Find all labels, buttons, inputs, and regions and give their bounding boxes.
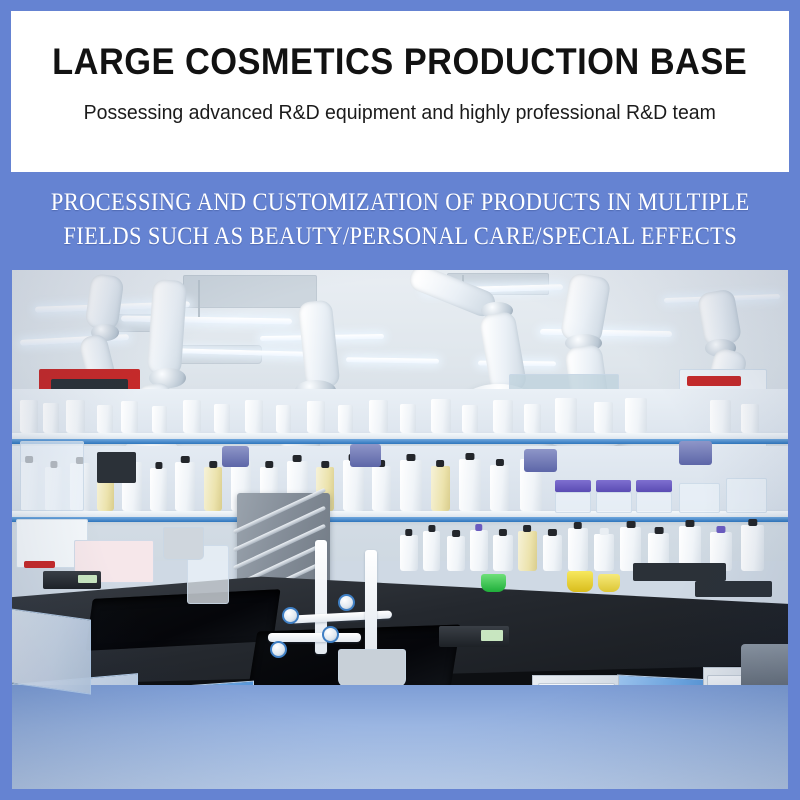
lab-scene [12, 270, 788, 789]
shelf-bottle [214, 404, 230, 434]
purple-tray [555, 480, 591, 491]
shelf-bottle [555, 398, 577, 434]
dispenser-head [524, 449, 557, 472]
shelf-bottle [121, 401, 139, 433]
reagent-bottle [204, 467, 222, 511]
faucet-knob [322, 626, 339, 643]
purple-tray [636, 480, 672, 491]
analytical-balance [43, 571, 101, 589]
bench-bottle [470, 530, 488, 572]
reagent-bottle [431, 466, 450, 511]
bench-instrument [633, 563, 726, 581]
balance-display [481, 630, 503, 640]
shelf-bottle [594, 402, 613, 434]
green-solution-flask [481, 574, 506, 593]
laboratory-photo [12, 270, 788, 789]
instrument-label [24, 561, 55, 568]
shelf-bottle [183, 400, 202, 434]
lab-technician [427, 397, 453, 444]
bench-bottle [594, 534, 614, 571]
shelf-bottle [20, 400, 38, 434]
shelf-bottle [338, 405, 354, 434]
bench-bottle [400, 535, 418, 571]
back-bench-equipment [20, 441, 84, 510]
faucet-arm [268, 633, 361, 641]
faucet-column [365, 550, 377, 654]
shelf-bottle [400, 404, 416, 434]
shelf-bottle [276, 405, 292, 434]
shelf-bottle [369, 400, 388, 434]
shelf-bottle [43, 403, 59, 434]
strapline-band: PROCESSING AND CUSTOMIZATION OF PRODUCTS… [11, 172, 789, 268]
warning-label [687, 376, 741, 385]
header-panel: LARGE COSMETICS PRODUCTION BASE Possessi… [11, 11, 789, 172]
shelf-bottle [710, 400, 730, 434]
lower-shelf-rail [12, 517, 788, 522]
bench-bottle [447, 536, 466, 571]
faucet-knob [270, 641, 287, 658]
bench-instrument [695, 581, 773, 597]
strapline-line-2: FIELDS SUCH AS BEAUTY/PERSONAL CARE/SPEC… [63, 223, 737, 251]
wall-base-unit [12, 606, 92, 694]
white-container [596, 492, 632, 513]
shelf-bottle [152, 406, 168, 434]
shelf-bottle [307, 401, 326, 434]
dispenser-head [222, 446, 250, 467]
balance-display [78, 575, 97, 583]
yellow-solution-flask [567, 571, 593, 592]
promotional-banner: LARGE COSMETICS PRODUCTION BASE Possessi… [0, 0, 800, 800]
stainless-pot [338, 649, 406, 687]
bench-bottle [518, 531, 537, 571]
white-container [726, 478, 767, 514]
reagent-bottle [490, 465, 509, 511]
page-subtitle: Possessing advanced R&D equipment and hi… [84, 101, 716, 125]
reagent-bottle [343, 460, 364, 511]
bench-bottle [423, 531, 440, 571]
shelf-bottle [625, 398, 647, 434]
dispenser-head [679, 441, 712, 464]
bench-bottle [741, 525, 764, 571]
shelf-bottle [245, 400, 263, 434]
analytical-balance [439, 626, 509, 648]
lab-sink [85, 590, 280, 652]
white-container [679, 483, 720, 514]
shelf-bottle [462, 405, 478, 434]
shelf-bottle [493, 400, 512, 434]
reagent-bottle [459, 459, 481, 511]
reagent-bottle [150, 468, 167, 511]
page-title: LARGE COSMETICS PRODUCTION BASE [52, 43, 747, 82]
upper-shelf-rail [12, 439, 788, 444]
shelf-bottle [66, 400, 85, 434]
reagent-bottle [400, 460, 422, 511]
stainless-basin [163, 527, 204, 560]
shelf-bottle [741, 404, 759, 434]
white-container [555, 492, 591, 513]
strapline-line-1: PROCESSING AND CUSTOMIZATION OF PRODUCTS… [51, 189, 750, 217]
bench-bottle [568, 528, 588, 571]
reagent-bottle [175, 462, 195, 511]
white-container [636, 492, 672, 513]
reagent-bottle [372, 466, 391, 511]
bench-bottle [543, 535, 562, 571]
shelf-bottle [524, 404, 541, 434]
bench-bottle [493, 535, 512, 571]
yellow-solution-flask [598, 574, 620, 592]
back-bench-monitor [97, 452, 136, 483]
shelf-bottle [97, 405, 113, 434]
lab-floor [12, 685, 788, 789]
dispenser-head [350, 444, 381, 467]
purple-tray [596, 480, 632, 491]
